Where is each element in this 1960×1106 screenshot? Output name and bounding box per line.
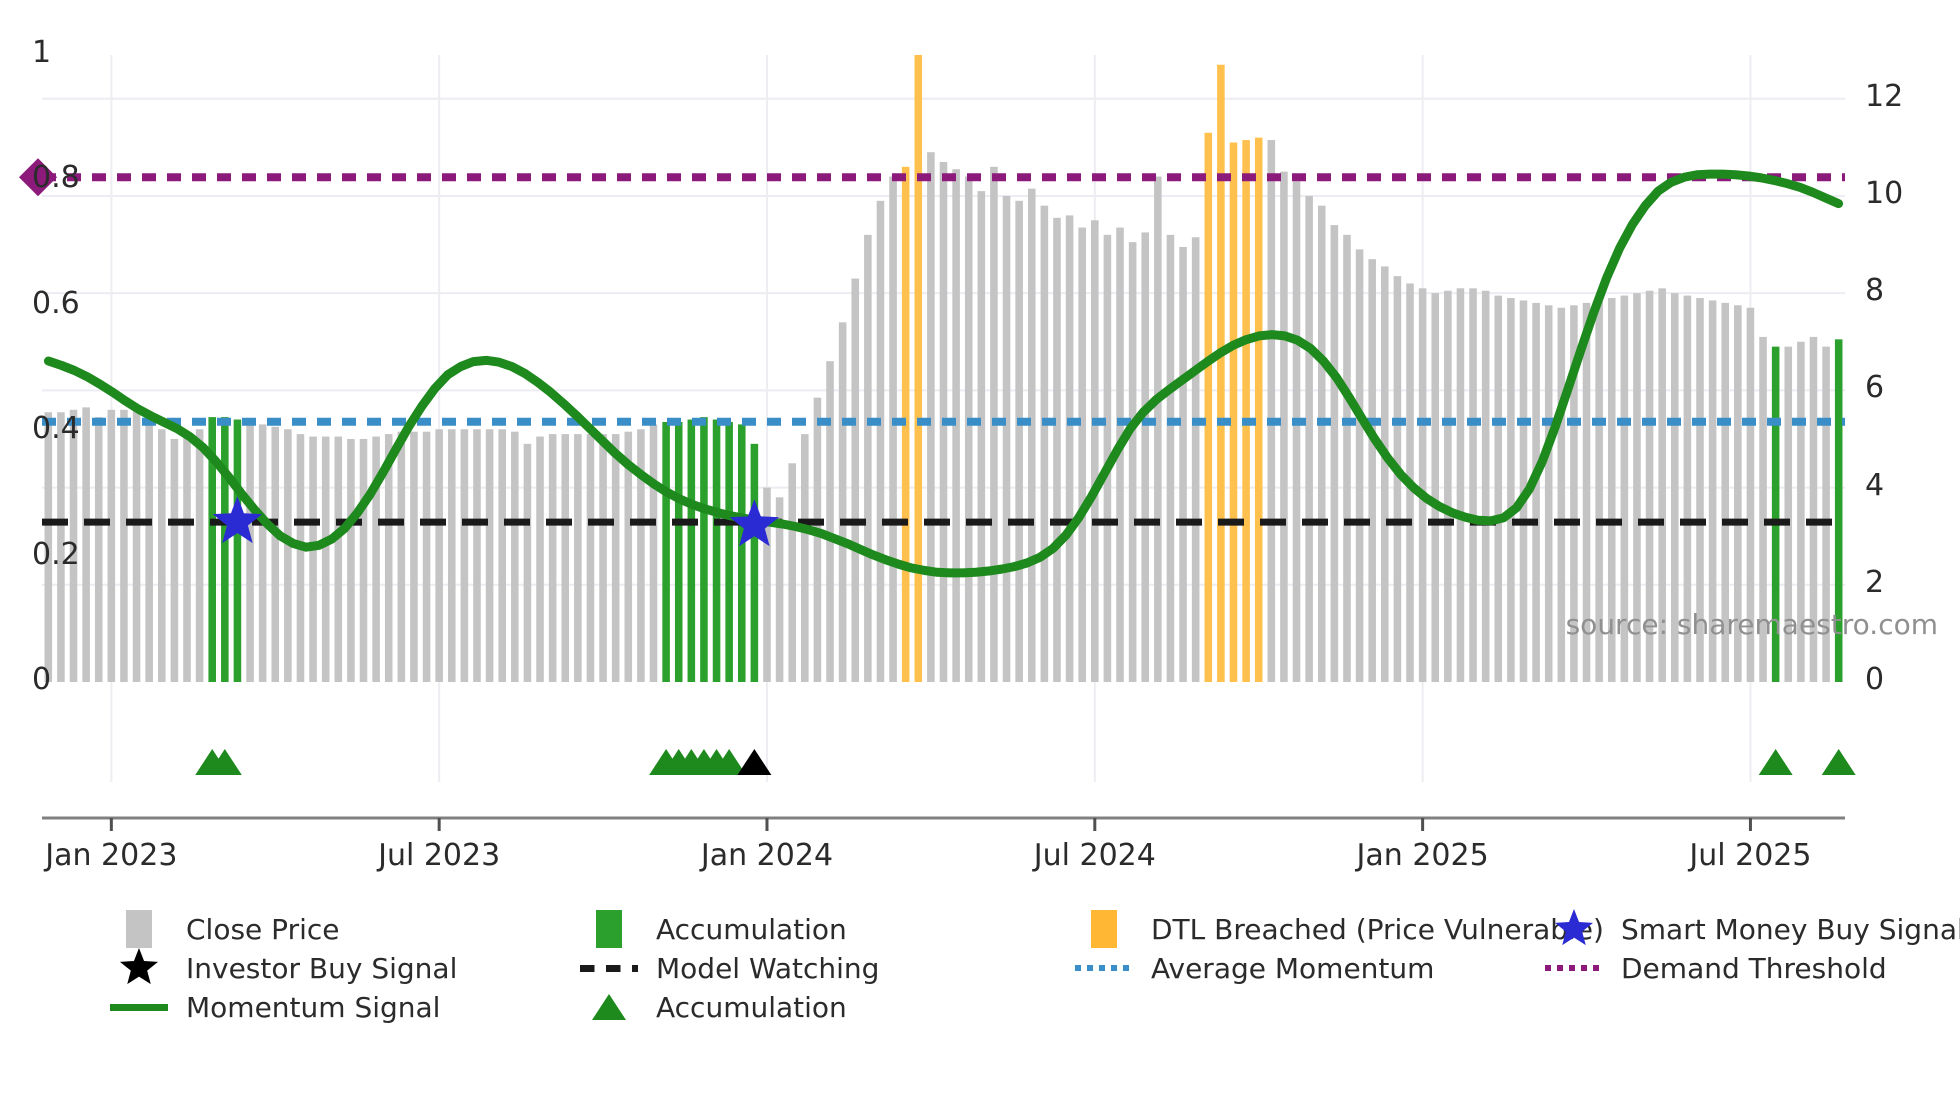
x-axis-tick-label: Jan 2023	[45, 838, 177, 873]
bar-close-price	[524, 444, 532, 682]
bar-close-price	[423, 432, 431, 682]
bar-close-price	[335, 437, 343, 682]
legend-line-swatch	[110, 1004, 168, 1011]
bar-close-price	[549, 434, 557, 682]
source-attribution: source: sharemaestro.com	[1566, 608, 1938, 641]
bar-close-price	[839, 322, 847, 682]
bar-close-price	[1091, 220, 1099, 682]
bar-close-price	[347, 439, 355, 682]
bar-close-price	[826, 361, 834, 682]
legend-label: Demand Threshold	[1621, 952, 1887, 985]
bar-close-price	[398, 432, 406, 682]
legend-dotted-line-swatch	[1545, 965, 1603, 971]
legend-smart-money[interactable]: Smart Money Buy Signal	[1545, 910, 1960, 948]
x-axis-tick-label: Jan 2025	[1357, 838, 1489, 873]
bar-close-price	[82, 407, 90, 682]
bar-close-price	[1280, 172, 1288, 682]
legend-momentum-signal[interactable]: Momentum Signal	[110, 988, 440, 1026]
bar-close-price	[448, 429, 456, 682]
bar-close-price	[587, 434, 595, 682]
bar-close-price	[196, 429, 204, 682]
bar-close-price	[133, 405, 141, 682]
legend-close-price[interactable]: Close Price	[110, 910, 339, 948]
star-icon	[1545, 908, 1603, 950]
bar-close-price	[927, 152, 935, 682]
bar-close-price	[486, 429, 494, 682]
bar-dtl-breached	[915, 55, 923, 682]
x-axis-tick-label: Jul 2023	[378, 838, 500, 873]
bar-close-price	[183, 437, 191, 682]
bar-dtl-breached	[1242, 140, 1250, 682]
bar-close-price	[120, 410, 128, 682]
legend-demand-threshold[interactable]: Demand Threshold	[1545, 949, 1887, 987]
bar-close-price	[1545, 305, 1553, 682]
bar-close-price	[1457, 288, 1465, 682]
bar-close-price	[284, 429, 292, 682]
bar-accumulation	[688, 420, 696, 682]
legend-label: Momentum Signal	[186, 991, 440, 1024]
bar-accumulation	[751, 444, 759, 682]
bar-close-price	[1028, 189, 1036, 682]
bar-accumulation	[713, 420, 721, 682]
bar-close-price	[1015, 201, 1023, 682]
bar-close-price	[1356, 249, 1364, 682]
bar-close-price	[1141, 232, 1149, 682]
bar-close-price	[965, 177, 973, 682]
bar-accumulation	[738, 424, 746, 682]
bar-close-price	[259, 424, 267, 682]
y-axis-right-tick-label: 12	[1865, 79, 1903, 114]
legend-label: Investor Buy Signal	[186, 952, 457, 985]
bar-close-price	[511, 432, 519, 682]
bar-close-price	[814, 398, 822, 682]
legend-label: Close Price	[186, 913, 339, 946]
bar-close-price	[1431, 293, 1439, 682]
bar-close-price	[1129, 242, 1137, 682]
bar-close-price	[1293, 181, 1301, 682]
legend-dtl-breached[interactable]: DTL Breached (Price Vulnerable)	[1075, 910, 1604, 948]
bar-close-price	[246, 420, 254, 682]
bar-close-price	[1419, 288, 1427, 682]
y-axis-right-tick-label: 8	[1865, 273, 1884, 308]
y-axis-right-tick-label: 0	[1865, 662, 1884, 697]
bar-close-price	[1558, 308, 1566, 682]
bar-close-price	[297, 434, 305, 682]
bar-close-price	[322, 437, 330, 682]
bar-accumulation	[700, 417, 708, 682]
bar-close-price	[145, 412, 153, 682]
chart-legend: Close PriceAccumulationDTL Breached (Pri…	[0, 910, 1960, 1090]
bar-close-price	[1066, 215, 1074, 682]
bar-close-price	[561, 434, 569, 682]
legend-average-momentum[interactable]: Average Momentum	[1075, 949, 1434, 987]
bar-accumulation	[675, 422, 683, 682]
x-axis-tick-label: Jul 2025	[1689, 838, 1811, 873]
legend-dashed-line-swatch	[580, 965, 638, 972]
bar-accumulation	[234, 420, 242, 682]
bar-close-price	[599, 434, 607, 682]
bar-close-price	[271, 427, 279, 682]
bar-dtl-breached	[1255, 138, 1263, 682]
legend-investor-buy[interactable]: Investor Buy Signal	[110, 949, 457, 987]
x-axis-tick-label: Jan 2024	[701, 838, 833, 873]
bar-close-price	[1192, 237, 1200, 682]
bar-close-price	[158, 429, 166, 682]
legend-bar-swatch	[1091, 910, 1117, 948]
legend-swatch	[580, 910, 638, 948]
bar-close-price	[1179, 247, 1187, 682]
bar-close-price	[612, 434, 620, 682]
bar-close-price	[788, 463, 796, 682]
bar-close-price	[1469, 288, 1477, 682]
bar-close-price	[309, 437, 317, 682]
bar-close-price	[889, 177, 897, 682]
bar-accumulation	[725, 422, 733, 682]
bar-close-price	[461, 429, 469, 682]
bar-close-price	[410, 432, 418, 682]
bar-close-price	[801, 434, 809, 682]
bar-close-price	[1507, 298, 1515, 682]
bar-dtl-breached	[1204, 133, 1212, 682]
bar-close-price	[95, 417, 103, 682]
legend-swatch	[1075, 910, 1133, 948]
y-axis-right-tick-label: 6	[1865, 370, 1884, 405]
legend-label: Accumulation	[656, 913, 847, 946]
legend-label: DTL Breached (Price Vulnerable)	[1151, 913, 1604, 946]
y-axis-right-tick-label: 10	[1865, 176, 1903, 211]
legend-bar-swatch	[126, 910, 152, 948]
bar-close-price	[1167, 235, 1175, 682]
legend-dotted-line-swatch	[1075, 965, 1133, 971]
bar-close-price	[1003, 196, 1011, 682]
bar-accumulation	[662, 422, 670, 682]
legend-swatch	[110, 910, 168, 948]
bar-close-price	[1268, 140, 1276, 682]
bar-close-price	[574, 434, 582, 682]
legend-label: Average Momentum	[1151, 952, 1434, 985]
bar-close-price	[1154, 177, 1162, 682]
bar-close-price	[171, 439, 179, 682]
y-axis-right-tick-label: 2	[1865, 565, 1884, 600]
bar-close-price	[435, 429, 443, 682]
bar-close-price	[1041, 206, 1049, 682]
bar-close-price	[1318, 206, 1326, 682]
bar-close-price	[1381, 266, 1389, 682]
bar-close-price	[1305, 196, 1313, 682]
legend-label: Smart Money Buy Signal	[1621, 913, 1960, 946]
y-axis-right-tick-label: 4	[1865, 468, 1884, 503]
chart-container: Close PriceAccumulationDTL Breached (Pri…	[0, 0, 1960, 1102]
bar-close-price	[851, 279, 859, 682]
legend-accumulation-bar[interactable]: Accumulation	[580, 910, 847, 948]
bar-close-price	[1343, 235, 1351, 682]
bar-close-price	[1078, 228, 1086, 682]
bar-close-price	[1532, 303, 1540, 682]
bar-close-price	[1368, 259, 1376, 682]
bar-close-price	[536, 437, 544, 682]
bar-close-price	[473, 429, 481, 682]
bar-close-price	[1444, 291, 1452, 682]
legend-accumulation-triangle[interactable]: Accumulation	[580, 988, 847, 1026]
bar-close-price	[108, 410, 116, 682]
bar-close-price	[1494, 296, 1502, 682]
bar-close-price	[1053, 218, 1061, 682]
triangle-up-icon	[580, 987, 638, 1027]
bar-close-price	[1482, 291, 1490, 682]
bar-close-price	[650, 424, 658, 682]
bar-accumulation	[221, 417, 229, 682]
bar-close-price	[978, 191, 986, 682]
legend-label: Model Watching	[656, 952, 879, 985]
bar-dtl-breached	[1217, 65, 1225, 682]
bar-close-price	[498, 429, 506, 682]
star-icon	[110, 947, 168, 989]
legend-label: Accumulation	[656, 991, 847, 1024]
legend-bar-swatch	[596, 910, 622, 948]
bar-close-price	[1331, 225, 1339, 682]
bar-close-price	[864, 235, 872, 682]
x-axis-tick-label: Jul 2024	[1034, 838, 1156, 873]
legend-model-watching[interactable]: Model Watching	[580, 949, 879, 987]
bar-dtl-breached	[1230, 142, 1238, 682]
bar-close-price	[877, 201, 885, 682]
bar-close-price	[360, 439, 368, 682]
